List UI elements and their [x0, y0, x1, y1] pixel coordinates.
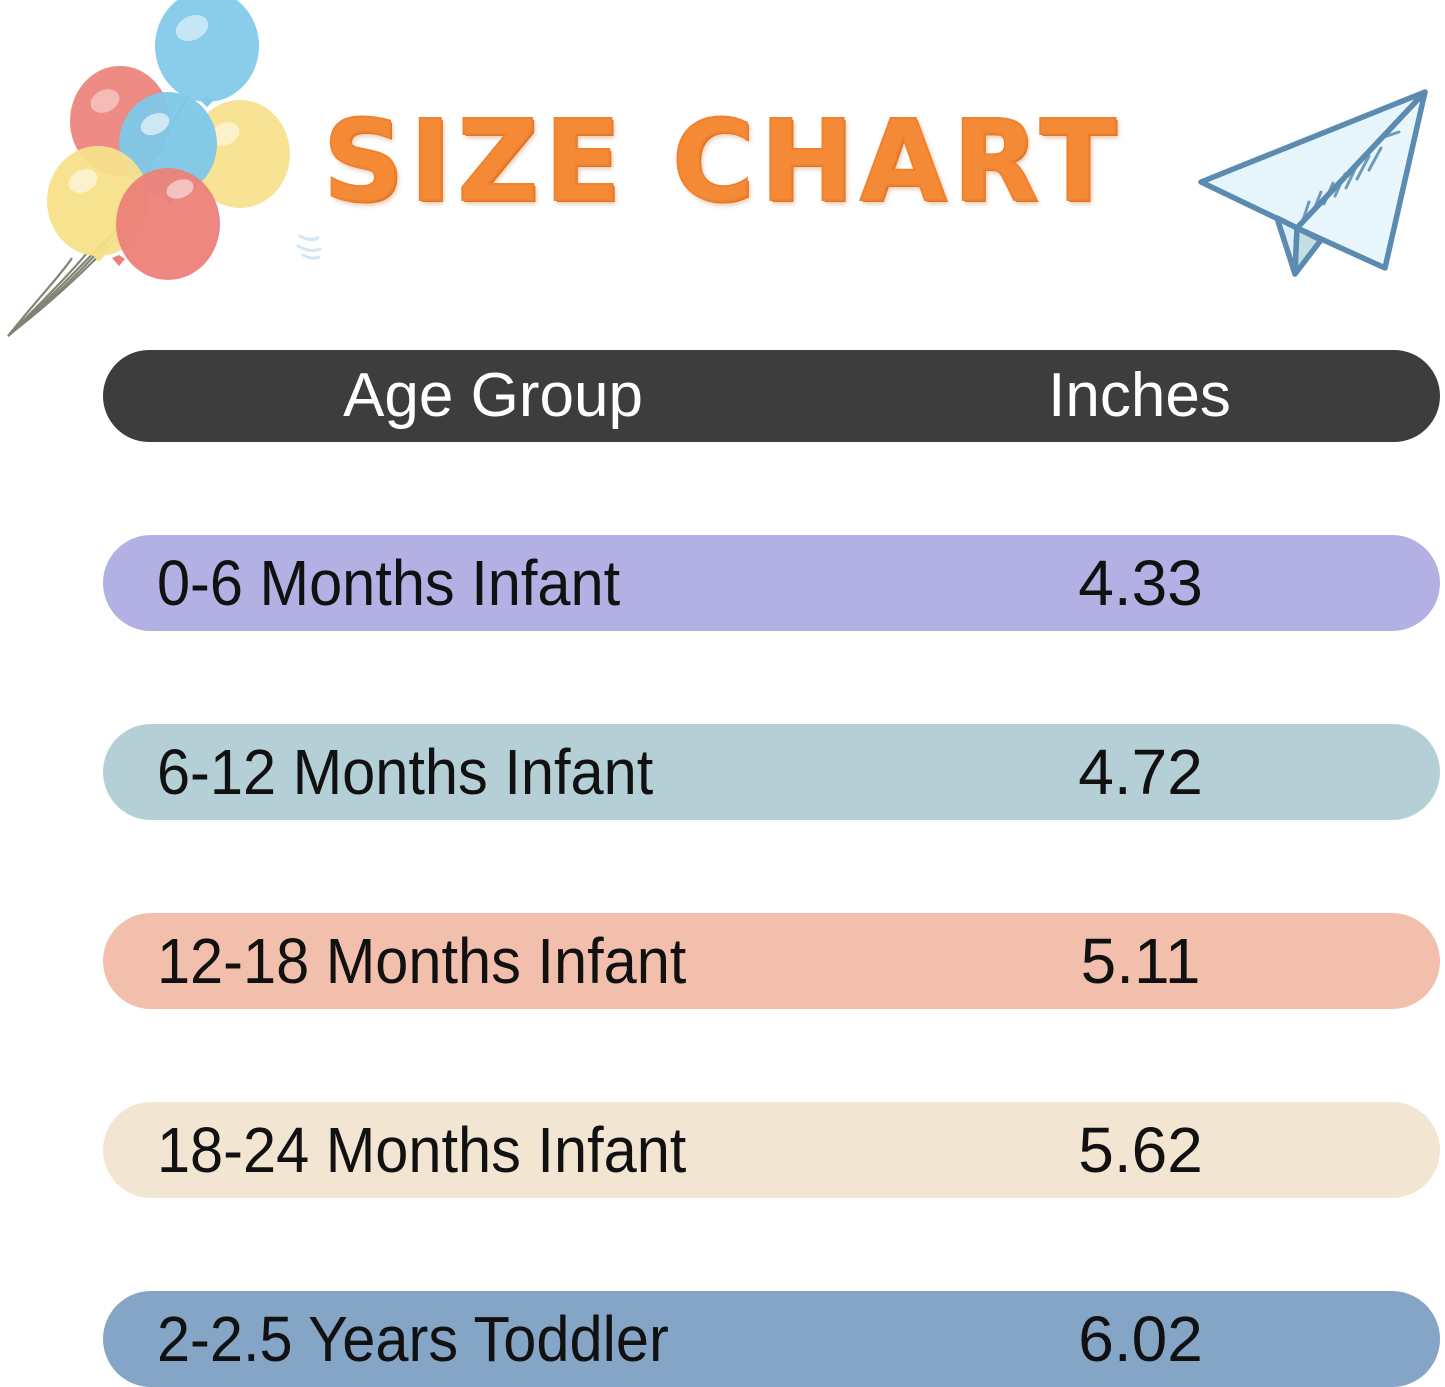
- cell-age-group: 2-2.5 Years Toddler: [103, 1306, 901, 1372]
- cell-age-group: 0-6 Months Infant: [103, 550, 901, 616]
- table-row: 0-6 Months Infant 4.33: [103, 535, 1440, 631]
- cell-inches: 4.33: [961, 550, 1440, 616]
- cell-age-group: 12-18 Months Infant: [103, 928, 901, 994]
- size-chart-table: Age Group Inches 0-6 Months Infant 4.33 …: [103, 350, 1440, 1387]
- page-title: SIZE CHART: [0, 102, 1445, 222]
- cell-inches: 4.72: [961, 739, 1440, 805]
- table-header-row: Age Group Inches: [103, 350, 1440, 442]
- cell-inches: 6.02: [961, 1306, 1440, 1372]
- table-row: 2-2.5 Years Toddler 6.02: [103, 1291, 1440, 1387]
- cell-age-group: 6-12 Months Infant: [103, 739, 901, 805]
- table-row: 12-18 Months Infant 5.11: [103, 913, 1440, 1009]
- cell-inches: 5.11: [961, 928, 1440, 994]
- cell-age-group: 18-24 Months Infant: [103, 1117, 901, 1183]
- column-header-age-group: Age Group: [103, 365, 873, 427]
- cell-inches: 5.62: [961, 1117, 1440, 1183]
- column-header-inches: Inches: [873, 365, 1440, 427]
- table-row: 6-12 Months Infant 4.72: [103, 724, 1440, 820]
- table-row: 18-24 Months Infant 5.62: [103, 1102, 1440, 1198]
